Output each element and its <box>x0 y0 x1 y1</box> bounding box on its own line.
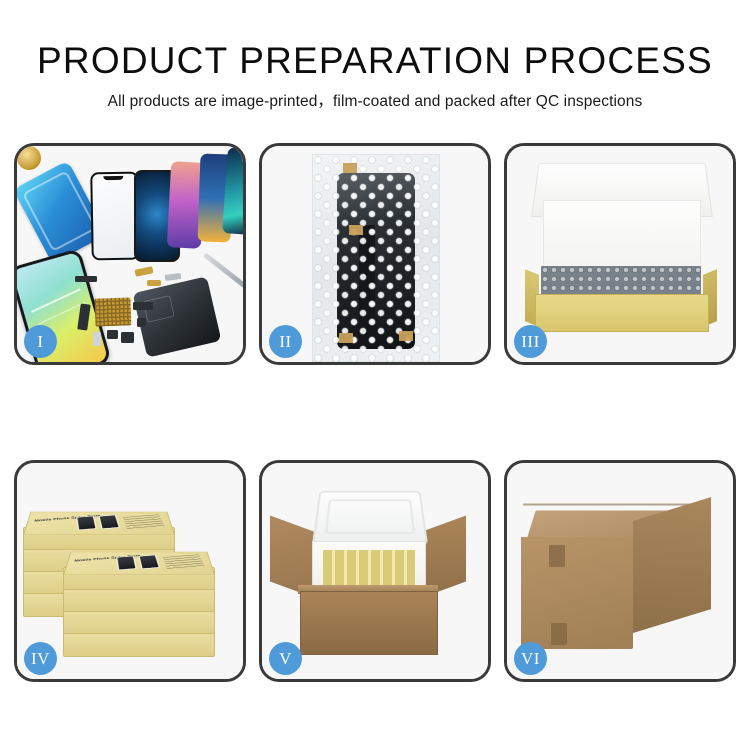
process-step-4: Mobile Phone Spare Parts Mobile Phone Sp… <box>14 460 246 682</box>
product-preparation-page: PRODUCT PREPARATION PROCESS All products… <box>0 0 750 750</box>
tape-icon <box>339 333 353 343</box>
logic-board-icon <box>95 297 132 326</box>
step-5-badge: V <box>269 642 302 675</box>
box-front-panel-icon <box>535 294 709 332</box>
carton-front-panel-icon <box>300 591 438 655</box>
part-connector-icon <box>93 332 101 346</box>
step-4-badge: IV <box>24 642 57 675</box>
speaker-coil-icon <box>17 146 41 170</box>
page-subtitle: All products are image-printed，film-coat… <box>0 92 750 112</box>
box-print-thumbnail <box>116 556 136 571</box>
retail-box-top-face: Mobile Phone Spare Parts <box>63 552 215 575</box>
part-flex-icon <box>134 266 153 277</box>
bubble-wrap-bag <box>312 154 440 362</box>
box-print-thumbnail <box>98 515 119 529</box>
step-6-badge: VI <box>514 642 547 675</box>
part-chip-icon <box>133 302 153 310</box>
part-flex-icon <box>147 280 161 286</box>
retail-box-top-face: Mobile Phone Spare Parts <box>23 512 175 535</box>
box-print-speclines <box>163 554 205 569</box>
process-step-1: I <box>14 143 246 365</box>
process-step-2: II <box>259 143 491 365</box>
bubble-texture <box>313 155 439 361</box>
carton-side-face-icon <box>633 497 711 633</box>
phone-housing-icon <box>133 276 222 357</box>
process-step-3: III <box>504 143 736 365</box>
screen-protector-icon <box>90 172 140 261</box>
carton-tape-icon <box>551 623 567 645</box>
step-1-badge: I <box>24 325 57 358</box>
process-step-5: V <box>259 460 491 682</box>
step-3-badge: III <box>514 325 547 358</box>
part-bracket-icon <box>165 273 182 281</box>
box-print-thumbnail <box>76 516 96 531</box>
step-2-badge: II <box>269 325 302 358</box>
box-print-thumbnail <box>138 555 159 569</box>
bubble-wrap-layer-icon <box>541 266 701 296</box>
process-step-6: VI <box>504 460 736 682</box>
page-title: PRODUCT PREPARATION PROCESS <box>0 39 750 83</box>
tweezers-icon <box>203 253 243 289</box>
process-step-grid: I II <box>14 143 736 682</box>
foam-sheet-icon <box>543 200 701 270</box>
tape-icon <box>349 225 363 235</box>
retail-box-edge <box>63 611 215 635</box>
tape-icon <box>343 163 357 173</box>
retail-box-edge <box>63 589 215 613</box>
part-chip-icon <box>121 332 134 343</box>
part-chip-icon <box>107 330 118 339</box>
carton-front-face-icon <box>521 537 633 649</box>
part-chip-icon <box>75 276 97 282</box>
page-header: PRODUCT PREPARATION PROCESS All products… <box>0 0 750 112</box>
part-chip-icon <box>137 318 146 327</box>
retail-box-edge <box>63 633 215 657</box>
tape-icon <box>399 331 413 341</box>
box-print-speclines <box>123 514 165 529</box>
carton-tape-icon <box>549 545 565 567</box>
styrofoam-lid-icon <box>312 491 428 545</box>
